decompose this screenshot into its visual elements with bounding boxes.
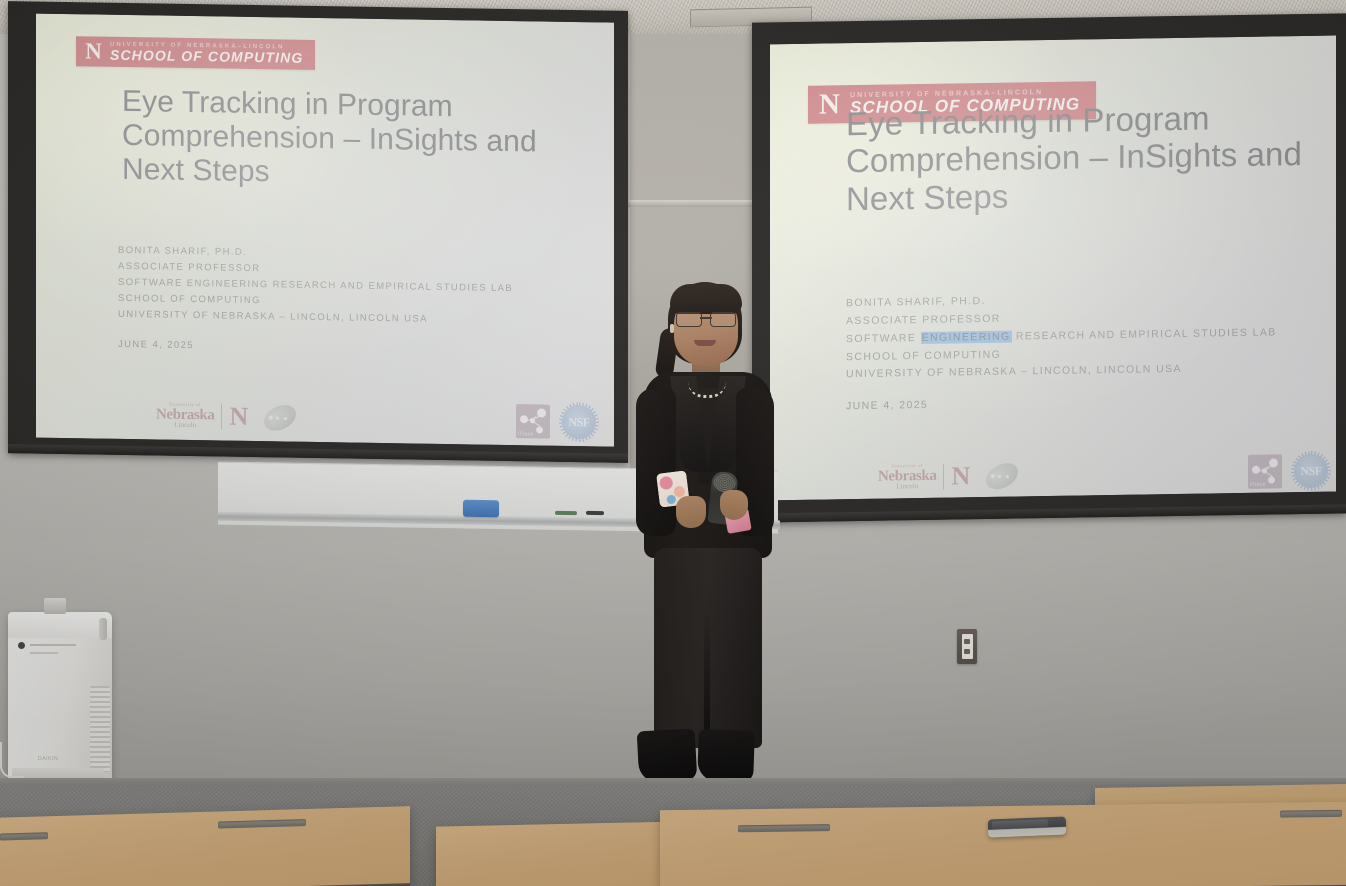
lecture-hall-scene: N UNIVERSITY OF NEBRASKA–LINCOLN SCHOOL …	[0, 0, 1346, 886]
nebraska-lincoln-text: Lincoln	[174, 422, 196, 429]
brand-text: UNIVERSITY OF NEBRASKA–LINCOLN SCHOOL OF…	[110, 37, 303, 70]
left-projection-screen: N UNIVERSITY OF NEBRASKA–LINCOLN SCHOOL …	[8, 1, 628, 463]
eye-tracking-icon	[260, 399, 301, 435]
hand-left	[676, 496, 706, 528]
brand-school-line: SCHOOL OF COMPUTING	[110, 47, 303, 65]
logo-divider	[221, 403, 222, 429]
lab-suffix: RESEARCH AND EMPIRICAL STUDIES LAB	[1012, 326, 1277, 342]
logo-strip: University of Nebraska Lincoln N iTrace	[156, 393, 596, 444]
nebraska-n-icon: N	[76, 36, 110, 67]
author-block: BONITA SHARIF, PH.D. ASSOCIATE PROFESSOR…	[118, 243, 513, 359]
eye-tracking-icon	[982, 457, 1023, 494]
school-of-computing-banner: N UNIVERSITY OF NEBRASKA–LINCOLN SCHOOL …	[76, 36, 315, 70]
earring	[670, 324, 674, 333]
slide-title: Eye Tracking in Program Comprehension – …	[846, 98, 1326, 217]
hand-right	[720, 490, 748, 520]
arm-left	[636, 388, 676, 536]
author-block: BONITA SHARIF, PH.D. ASSOCIATE PROFESSOR…	[846, 288, 1277, 416]
nebraska-n-logo-icon: N	[229, 404, 247, 430]
nebraska-lincoln-text: Lincoln	[896, 483, 918, 490]
hair-front	[670, 284, 742, 314]
lab-highlighted-word: ENGINEERING	[921, 330, 1012, 343]
left-slide: N UNIVERSITY OF NEBRASKA–LINCOLN SCHOOL …	[36, 14, 614, 447]
nebraska-n-icon: N	[808, 85, 850, 124]
table-center	[436, 821, 686, 886]
cable-grommet	[218, 819, 306, 828]
lab-prefix: SOFTWARE	[846, 332, 921, 345]
leg-gap	[704, 606, 710, 748]
mouth	[694, 340, 716, 346]
glasses-right-lens	[710, 312, 736, 327]
itrace-label: iTrace	[1250, 482, 1266, 488]
nebraska-lincoln-logo: University of Nebraska Lincoln N	[156, 402, 247, 429]
nsf-logo-icon: NSF	[562, 405, 596, 440]
cable-grommet	[738, 824, 830, 832]
wall-outlet	[957, 629, 977, 664]
table-main	[660, 802, 1346, 886]
nebraska-wordmark: University of Nebraska Lincoln	[156, 403, 214, 429]
cable-grommet	[1280, 810, 1342, 818]
slide-date: JUNE 4, 2025	[846, 392, 1277, 417]
nsf-logo-icon: NSF	[1294, 454, 1328, 489]
slide-title: Eye Tracking in Program Comprehension – …	[122, 85, 592, 194]
air-purifier-top	[8, 612, 112, 638]
air-purifier-handle	[99, 618, 107, 640]
nebraska-n-logo-icon: N	[951, 463, 969, 489]
air-purifier-brand: DAIKIN	[38, 756, 58, 762]
outlet-slot-top	[964, 639, 970, 644]
glasses-left-lens	[676, 312, 702, 327]
presenter	[614, 276, 804, 786]
table-left	[0, 806, 410, 886]
slide-date: JUNE 4, 2025	[118, 337, 513, 359]
logo-divider	[943, 464, 944, 490]
whiteboard-eraser	[463, 500, 499, 518]
air-purifier-panel-label-2	[30, 652, 58, 654]
center-wall-sill	[628, 200, 754, 207]
eyeglasses-icon	[676, 312, 736, 325]
nebraska-wordmark: University of Nebraska Lincoln	[878, 464, 936, 490]
itrace-logo-icon: iTrace	[516, 404, 550, 439]
air-purifier-vent-grill	[90, 686, 110, 772]
right-screen-surface: N UNIVERSITY OF NEBRASKA–LINCOLN SCHOOL …	[770, 35, 1336, 500]
air-purifier-cord	[0, 742, 24, 778]
air-purifier-power-button[interactable]	[18, 642, 25, 649]
logo-strip: University of Nebraska Lincoln N iTrace	[878, 446, 1328, 501]
boot-left	[637, 729, 698, 784]
right-slide: N UNIVERSITY OF NEBRASKA–LINCOLN SCHOOL …	[770, 35, 1336, 500]
air-purifier-plug	[44, 598, 66, 614]
nsf-label: NSF	[1300, 463, 1321, 478]
cable-grommet	[0, 832, 48, 840]
phone-screen	[992, 819, 1048, 829]
right-projection-screen: N UNIVERSITY OF NEBRASKA–LINCOLN SCHOOL …	[752, 13, 1346, 522]
air-purifier-panel-label	[30, 644, 76, 646]
nebraska-lincoln-logo: University of Nebraska Lincoln N	[878, 463, 969, 490]
green-marker	[555, 511, 577, 515]
nsf-label: NSF	[568, 414, 589, 429]
itrace-label: iTrace	[518, 431, 534, 437]
smartphone-on-table[interactable]	[988, 817, 1066, 838]
outlet-slot-bottom	[964, 649, 970, 654]
black-marker	[586, 511, 604, 515]
left-screen-surface: N UNIVERSITY OF NEBRASKA–LINCOLN SCHOOL …	[36, 14, 614, 447]
itrace-logo-icon: iTrace	[1248, 454, 1282, 489]
boot-right	[697, 729, 755, 783]
outlet-face	[962, 634, 973, 659]
